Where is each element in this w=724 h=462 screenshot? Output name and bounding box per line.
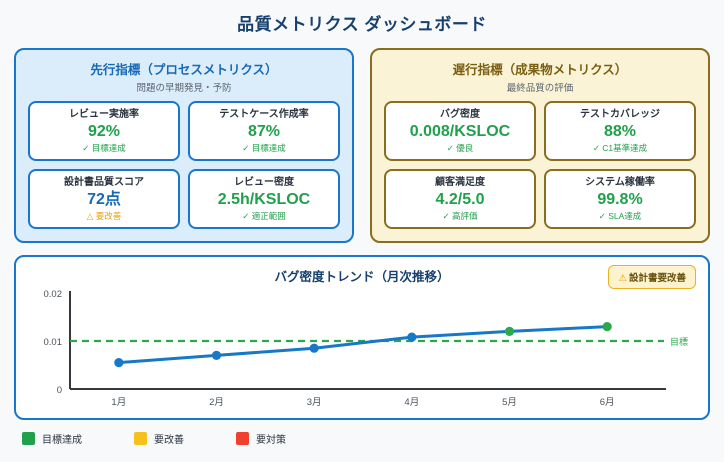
metric-label: システム稼働率 — [550, 177, 690, 189]
metric-status: △ 要改善 — [34, 211, 174, 221]
svg-text:0.02: 0.02 — [44, 289, 63, 300]
metric-status: ✓ 適正範囲 — [194, 211, 334, 221]
panel-leading-title: 先行指標（プロセスメトリクス） — [28, 59, 340, 78]
metric-value: 4.2/5.0 — [390, 189, 530, 211]
panel-lagging-title: 遅行指標（成果物メトリクス） — [384, 59, 696, 78]
metrics-panels: 先行指標（プロセスメトリクス） 問題の早期発見・予防 レビュー実施率 92% ✓… — [0, 35, 724, 243]
metric-card-bug-density[interactable]: バグ密度 0.008/KSLOC ✓ 優良 — [384, 101, 536, 161]
legend-swatch — [22, 432, 35, 445]
svg-text:目標: 目標 — [670, 336, 688, 347]
metric-value: 88% — [550, 121, 690, 143]
svg-text:4月: 4月 — [404, 397, 419, 408]
panel-leading-subtitle: 問題の早期発見・予防 — [28, 80, 340, 94]
metric-status: ✓ SLA達成 — [550, 211, 690, 221]
panel-lagging-indicators: 遅行指標（成果物メトリクス） 最終品質の評価 バグ密度 0.008/KSLOC … — [370, 48, 710, 243]
metric-card-review-density[interactable]: レビュー密度 2.5h/KSLOC ✓ 適正範囲 — [188, 169, 340, 229]
metric-card-test-coverage[interactable]: テストカバレッジ 88% ✓ C1基準達成 — [544, 101, 696, 161]
metric-label: テストカバレッジ — [550, 109, 690, 121]
legend-swatch — [134, 432, 147, 445]
chart-plot-area: 00.010.02目標1月2月3月4月5月6月 — [16, 285, 708, 418]
warning-icon: ⚠ — [618, 273, 627, 284]
metric-value: 99.8% — [550, 189, 690, 211]
page-title: 品質メトリクス ダッシュボード — [0, 0, 724, 35]
metric-value: 2.5h/KSLOC — [194, 189, 334, 211]
legend-label: 目標達成 — [42, 431, 82, 446]
metric-status: ✓ 目標達成 — [194, 143, 334, 153]
svg-text:3月: 3月 — [307, 397, 322, 408]
metric-card-review-rate[interactable]: レビュー実施率 92% ✓ 目標達成 — [28, 101, 180, 161]
legend-swatch — [236, 432, 249, 445]
dashboard-page: 品質メトリクス ダッシュボード 先行指標（プロセスメトリクス） 問題の早期発見・… — [0, 0, 724, 462]
metric-label: 顧客満足度 — [390, 177, 530, 189]
metric-card-system-uptime[interactable]: システム稼働率 99.8% ✓ SLA達成 — [544, 169, 696, 229]
legend-label: 要対策 — [256, 431, 286, 446]
svg-text:5月: 5月 — [502, 397, 517, 408]
metric-status: ✓ 優良 — [390, 143, 530, 153]
leading-card-grid: レビュー実施率 92% ✓ 目標達成 テストケース作成率 87% ✓ 目標達成 … — [28, 101, 340, 229]
svg-text:0: 0 — [57, 385, 62, 396]
line-chart-svg: 00.010.02目標1月2月3月4月5月6月 — [16, 285, 708, 418]
svg-text:0.01: 0.01 — [44, 337, 63, 348]
lagging-card-grid: バグ密度 0.008/KSLOC ✓ 優良 テストカバレッジ 88% ✓ C1基… — [384, 101, 696, 229]
chart-title: バグ密度トレンド（月次推移） — [26, 265, 698, 285]
bug-density-trend-chart-card: バグ密度トレンド（月次推移） ⚠設計書要改善 00.010.02目標1月2月3月… — [14, 255, 710, 420]
alert-badge-label: 設計書要改善 — [629, 273, 686, 284]
metric-label: 設計書品質スコア — [34, 177, 174, 189]
legend-label: 要改善 — [154, 431, 184, 446]
metric-label: バグ密度 — [390, 109, 530, 121]
metric-label: テストケース作成率 — [194, 109, 334, 121]
panel-lagging-subtitle: 最終品質の評価 — [384, 80, 696, 94]
metric-status: ✓ C1基準達成 — [550, 143, 690, 153]
metric-label: レビュー密度 — [194, 177, 334, 189]
metric-status: ✓ 高評価 — [390, 211, 530, 221]
panel-leading-indicators: 先行指標（プロセスメトリクス） 問題の早期発見・予防 レビュー実施率 92% ✓… — [14, 48, 354, 243]
metric-status: ✓ 目標達成 — [34, 143, 174, 153]
metric-value: 0.008/KSLOC — [390, 121, 530, 143]
legend-item-target-achieved: 目標達成 — [22, 431, 82, 446]
metric-card-testcase-rate[interactable]: テストケース作成率 87% ✓ 目標達成 — [188, 101, 340, 161]
metric-card-design-quality-score[interactable]: 設計書品質スコア 72点 △ 要改善 — [28, 169, 180, 229]
svg-text:1月: 1月 — [111, 397, 126, 408]
legend-item-needs-action: 要対策 — [236, 431, 286, 446]
metric-label: レビュー実施率 — [34, 109, 174, 121]
legend-item-needs-improvement: 要改善 — [134, 431, 184, 446]
chart-legend: 目標達成 要改善 要対策 — [0, 420, 724, 446]
metric-value: 92% — [34, 121, 174, 143]
metric-value: 72点 — [34, 189, 174, 211]
metric-card-customer-satisfaction[interactable]: 顧客満足度 4.2/5.0 ✓ 高評価 — [384, 169, 536, 229]
svg-text:2月: 2月 — [209, 397, 224, 408]
svg-text:6月: 6月 — [600, 397, 615, 408]
metric-value: 87% — [194, 121, 334, 143]
